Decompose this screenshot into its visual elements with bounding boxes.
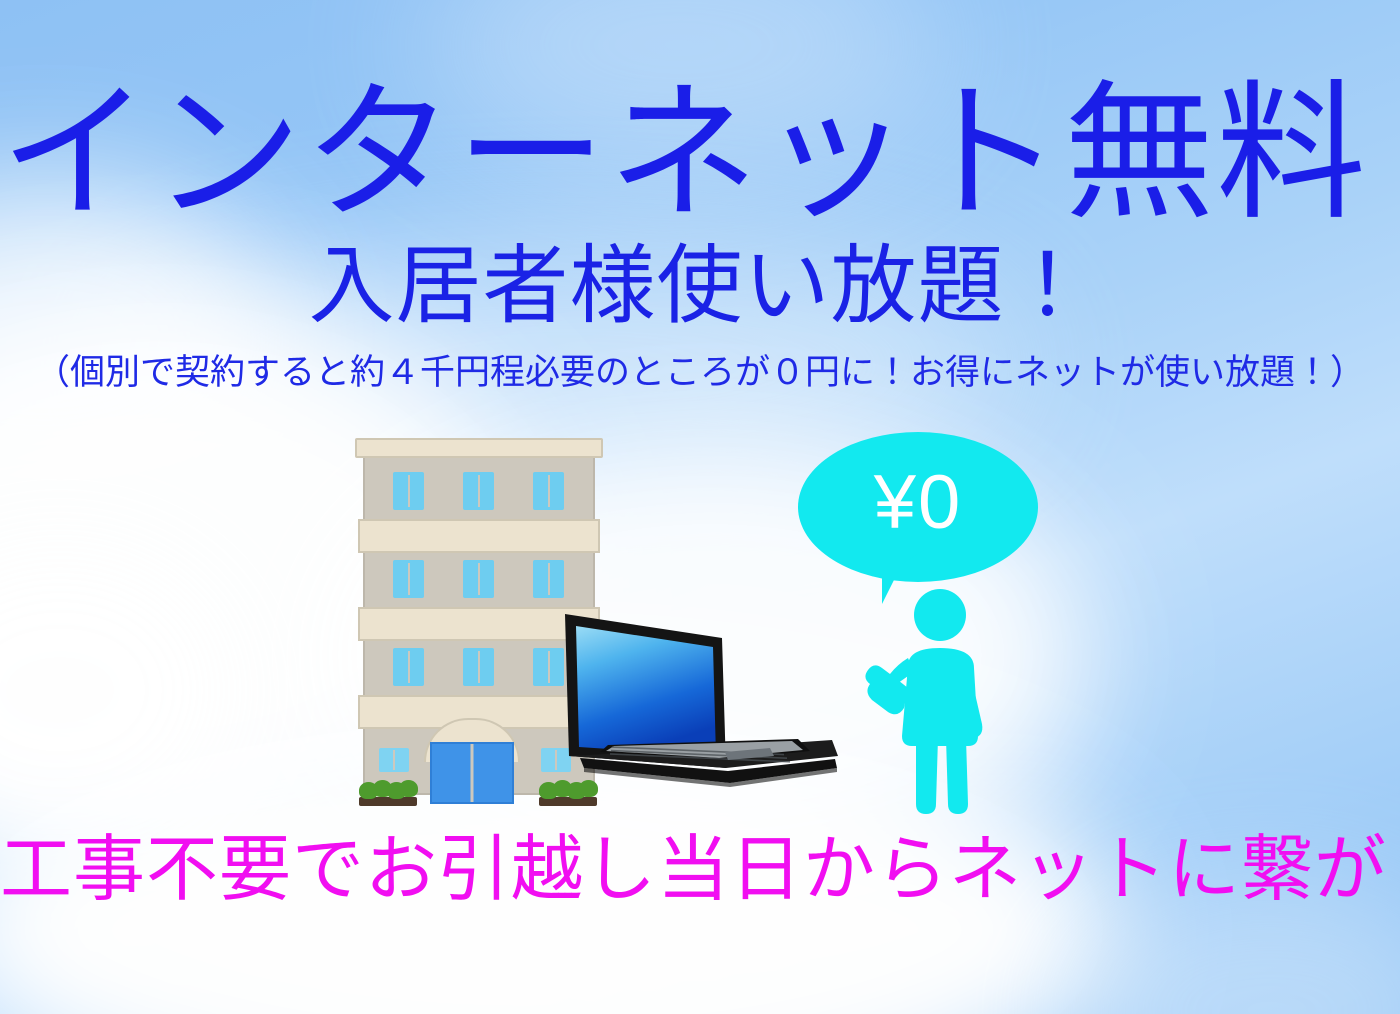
person-pictogram (862, 588, 1022, 816)
building-roof (355, 438, 603, 458)
building-window (533, 560, 564, 598)
headline-text: インターネット無料！ (0, 78, 1400, 228)
subheadline-text: 入居者様使い放題！ (0, 243, 1400, 329)
speech-bubble-price-text: ¥0 (798, 432, 1038, 582)
bush-shrub (359, 782, 417, 806)
price-note-text: （個別で契約すると約４千円程必要のところが０円に！お得にネットが使い放題！） (0, 355, 1400, 390)
poster-canvas: インターネット無料！ 入居者様使い放題！ （個別で契約すると約４千円程必要のとこ… (0, 0, 1400, 1014)
building-window (463, 472, 494, 510)
building-window (393, 648, 424, 686)
laptop-icon (560, 608, 842, 813)
building-window (393, 472, 424, 510)
building-window (393, 560, 424, 598)
building-entrance-door (430, 742, 514, 804)
person-icon (862, 588, 1022, 816)
footer-text: 工事不要でお引越し当日からネットに繋がります (0, 834, 1400, 906)
building-window (533, 472, 564, 510)
building-window (379, 748, 409, 772)
building-window (463, 560, 494, 598)
laptop-illustration (560, 608, 842, 813)
price-speech-bubble: ¥0 (798, 432, 1038, 582)
building-floor-band (358, 519, 600, 553)
building-window (463, 648, 494, 686)
